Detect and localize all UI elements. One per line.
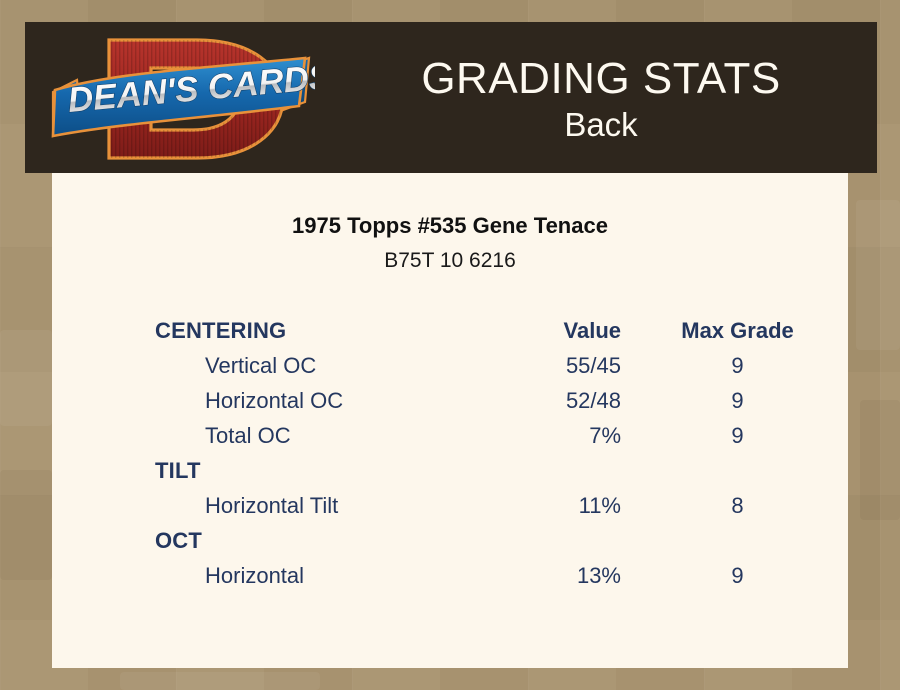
card-subtitle: B75T 10 6216 <box>52 248 848 273</box>
page-subtitle: Back <box>564 104 637 145</box>
stats-row-grade: 9 <box>641 348 848 383</box>
stats-row-value: 52/48 <box>422 383 641 418</box>
stats-row-value: 7% <box>422 418 641 453</box>
stats-row-grade <box>641 523 848 558</box>
stats-row-label: Vertical OC <box>52 348 422 383</box>
stats-row-grade: 8 <box>641 488 848 523</box>
stats-section-row: TILT <box>52 453 848 488</box>
stats-row-value: 55/45 <box>422 348 641 383</box>
grading-stats-table: CENTERINGValueMax GradeVertical OC55/459… <box>52 313 848 593</box>
stats-item-row: Total OC7%9 <box>52 418 848 453</box>
stats-row-label: OCT <box>52 523 422 558</box>
background-card-tile <box>0 470 52 580</box>
card-title: 1975 Topps #535 Gene Tenace <box>52 213 848 239</box>
background-card-tile <box>856 200 900 350</box>
stats-row-label: Total OC <box>52 418 422 453</box>
stats-row-grade: 9 <box>641 383 848 418</box>
grading-stats-page: DEAN'S CARDS GRADING STATS Back 1975 Top… <box>0 0 900 690</box>
stats-row-grade: 9 <box>641 418 848 453</box>
stats-row-label: Horizontal <box>52 558 422 593</box>
grading-stats-body: CENTERINGValueMax GradeVertical OC55/459… <box>52 313 848 593</box>
background-card-tile <box>120 672 320 690</box>
stats-row-value: 13% <box>422 558 641 593</box>
deans-cards-logo[interactable]: DEAN'S CARDS <box>47 28 315 168</box>
stats-row-grade: Max Grade <box>641 313 848 348</box>
page-title: GRADING STATS <box>421 56 780 102</box>
stats-row-label: Horizontal Tilt <box>52 488 422 523</box>
stats-row-label: TILT <box>52 453 422 488</box>
background-card-tile <box>0 330 52 426</box>
stats-row-label: Horizontal OC <box>52 383 422 418</box>
header-title-block: GRADING STATS Back <box>325 22 877 173</box>
header-bar: DEAN'S CARDS GRADING STATS Back <box>25 22 877 173</box>
stats-row-grade <box>641 453 848 488</box>
stats-section-row: CENTERINGValueMax Grade <box>52 313 848 348</box>
stats-row-grade: 9 <box>641 558 848 593</box>
stats-row-label: CENTERING <box>52 313 422 348</box>
stats-item-row: Horizontal OC52/489 <box>52 383 848 418</box>
stats-row-value <box>422 453 641 488</box>
stats-section-row: OCT <box>52 523 848 558</box>
stats-row-value: 11% <box>422 488 641 523</box>
stats-item-row: Vertical OC55/459 <box>52 348 848 383</box>
stats-row-value <box>422 523 641 558</box>
content-panel: 1975 Topps #535 Gene Tenace B75T 10 6216… <box>52 173 848 668</box>
stats-item-row: Horizontal Tilt11%8 <box>52 488 848 523</box>
stats-item-row: Horizontal13%9 <box>52 558 848 593</box>
stats-row-value: Value <box>422 313 641 348</box>
background-card-tile <box>860 400 900 520</box>
